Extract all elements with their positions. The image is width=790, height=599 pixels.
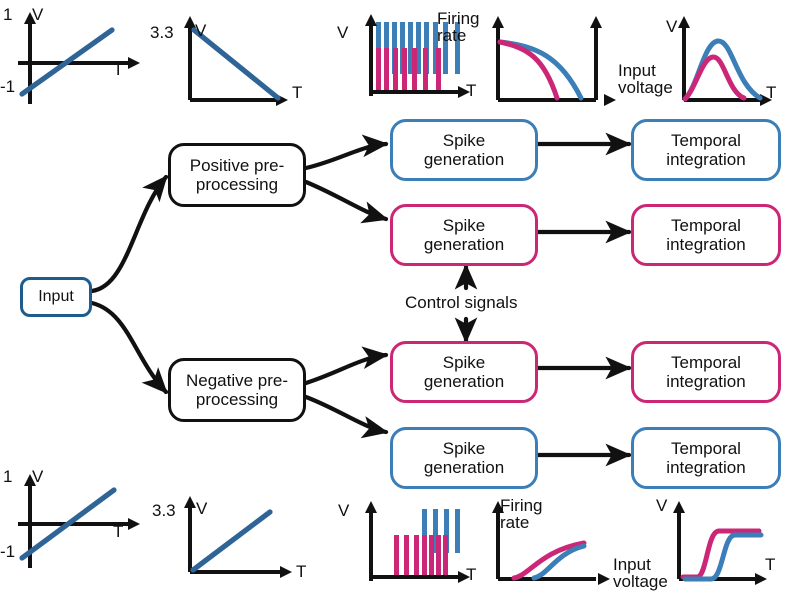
node-positive-preprocessing-label: Positive pre- processing [186, 156, 288, 194]
diagram-canvas: V 1 -1 T 3.3 V T [0, 0, 790, 599]
node-temporal-integration-3-label: Temporal integration [662, 353, 749, 391]
plot-top-preprocessed-ramp [170, 8, 310, 106]
axis-tick-bottom-input-upper: 1 [3, 468, 12, 485]
axis-tick-top-input-lower: -1 [0, 78, 15, 95]
control-signals-label: Control signals [405, 293, 517, 313]
axis-label-y-bottom-integrated: V [656, 497, 667, 514]
axis-tick-top-preprocessed: 3.3 [150, 24, 174, 41]
plot-top-firing-rate [484, 8, 634, 106]
node-temporal-integration-1-label: Temporal integration [662, 131, 749, 169]
wire-positive-to-spike2 [306, 182, 386, 219]
node-temporal-integration-4-label: Temporal integration [662, 439, 749, 477]
node-spike-generation-3-label: Spike generation [420, 353, 508, 391]
axis-label-y-bottom-firing-rate: Firing rate [500, 497, 543, 532]
plot-bottom-spike-train [350, 495, 480, 591]
node-temporal-integration-2[interactable]: Temporal integration [631, 204, 781, 266]
node-negative-preprocessing[interactable]: Negative pre- processing [168, 358, 306, 422]
axis-label-x-top-spike-train: T [466, 82, 476, 99]
node-temporal-integration-3[interactable]: Temporal integration [631, 341, 781, 403]
plot-bottom-integrated-output [655, 495, 790, 591]
axis-label-x-bottom-integrated: T [765, 556, 775, 573]
axis-label-y-top-firing-rate: Firing rate [437, 10, 480, 45]
axis-label-y-bottom-input: V [32, 468, 43, 485]
axis-label-y-top-integrated: V [666, 18, 677, 35]
node-temporal-integration-2-label: Temporal integration [662, 216, 749, 254]
wire-input-to-positive [92, 177, 166, 291]
plot-bottom-input-ramp [8, 470, 158, 570]
axis-label-x-top-input: T [113, 61, 123, 78]
axis-label-x-top-preprocessed: T [292, 84, 302, 101]
node-spike-generation-4-label: Spike generation [420, 439, 508, 477]
axis-label-y-top-input: V [32, 6, 43, 23]
node-spike-generation-2-label: Spike generation [420, 216, 508, 254]
node-spike-generation-1-label: Spike generation [420, 131, 508, 169]
node-temporal-integration-1[interactable]: Temporal integration [631, 119, 781, 181]
axis-tick-top-input-upper: 1 [3, 6, 12, 23]
axis-label-y-bottom-preprocessed: V [196, 500, 207, 517]
axis-label-x-bottom-firing-rate: Input voltage [613, 556, 668, 591]
axis-label-x-top-firing-rate: Input voltage [618, 62, 673, 97]
axis-label-x-bottom-input: T [113, 523, 123, 540]
axis-label-y-top-preprocessed: V [195, 22, 206, 39]
node-input-label: Input [34, 288, 78, 306]
axis-label-x-bottom-spike-train: T [466, 566, 476, 583]
wire-input-to-negative [92, 303, 166, 392]
node-temporal-integration-4[interactable]: Temporal integration [631, 427, 781, 489]
wire-negative-to-spike4 [306, 397, 386, 432]
wire-negative-to-spike3 [306, 355, 386, 383]
plot-top-input-ramp [8, 8, 158, 106]
node-negative-preprocessing-label: Negative pre- processing [182, 371, 292, 409]
node-spike-generation-4[interactable]: Spike generation [390, 427, 538, 489]
wire-positive-to-spike1 [306, 144, 386, 168]
node-input[interactable]: Input [20, 277, 92, 317]
axis-tick-bottom-preprocessed: 3.3 [152, 502, 176, 519]
node-spike-generation-2[interactable]: Spike generation [390, 204, 538, 266]
axis-label-x-bottom-preprocessed: T [296, 563, 306, 580]
axis-tick-bottom-input-lower: -1 [0, 543, 15, 560]
node-spike-generation-3[interactable]: Spike generation [390, 341, 538, 403]
axis-label-y-bottom-spike-train: V [338, 502, 349, 519]
node-positive-preprocessing[interactable]: Positive pre- processing [168, 143, 306, 207]
axis-label-x-top-integrated: T [766, 84, 776, 101]
node-spike-generation-1[interactable]: Spike generation [390, 119, 538, 181]
axis-label-y-top-spike-train: V [337, 24, 348, 41]
